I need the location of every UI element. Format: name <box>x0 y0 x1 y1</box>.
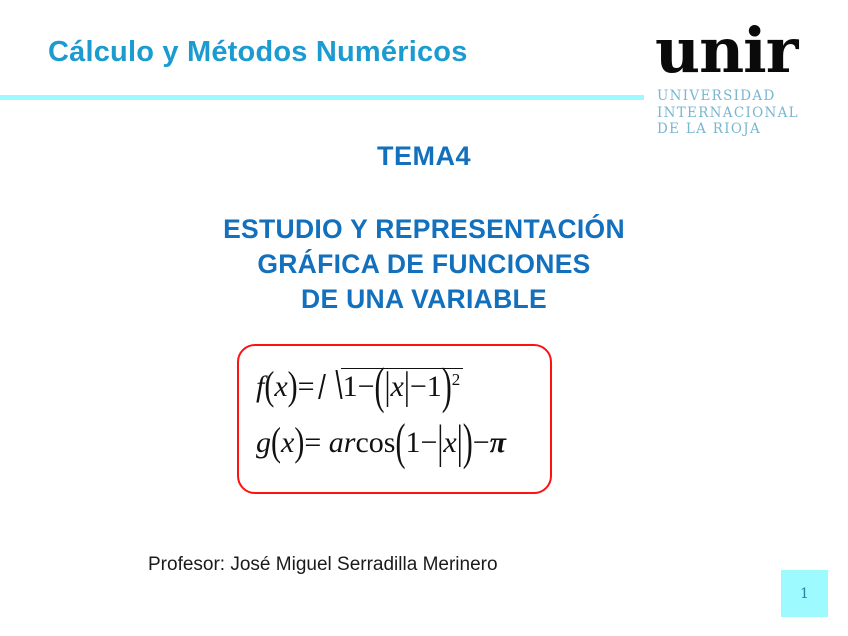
page-title-line-3: DE UNA VARIABLE <box>0 282 848 317</box>
unir-logo: unir UNIVERSIDAD INTERNACIONAL DE LA RIO… <box>655 20 825 138</box>
formula-f-close-paren: ) <box>288 364 298 410</box>
formula-g-cos: cos <box>355 426 395 459</box>
unir-wordmark: unir <box>655 20 797 82</box>
course-title: Cálculo y Métodos Numéricos <box>48 36 468 69</box>
formula-f-minus: − <box>358 370 375 403</box>
tema-label: TEMA4 <box>0 141 848 172</box>
formula-f-of-x: f(x)=1−(|x|−1)2 <box>256 368 463 404</box>
slide-canvas: Cálculo y Métodos Numéricos unir UNIVERS… <box>0 0 848 636</box>
formula-g-name: g <box>256 426 271 459</box>
formula-g-ar: ar <box>329 426 356 459</box>
formula-f-one: 1 <box>343 370 358 403</box>
page-title: ESTUDIO Y REPRESENTACIÓN GRÁFICA DE FUNC… <box>0 212 848 317</box>
page-title-line-1: ESTUDIO Y REPRESENTACIÓN <box>0 212 848 247</box>
formula-f-argument: x <box>274 370 287 403</box>
formula-f-inner-open-paren: ( <box>375 358 385 416</box>
formula-f-abs-close: | <box>404 365 410 409</box>
formula-g-argument: x <box>281 426 294 459</box>
formula-f-open-paren: ( <box>264 364 274 410</box>
professor-line: Profesor: José Miguel Serradilla Meriner… <box>148 554 498 576</box>
formula-g-minus-2: − <box>473 426 490 459</box>
square-root-icon: 1−(|x|−1)2 <box>319 368 464 404</box>
header-divider-rule <box>0 95 644 100</box>
formula-f-abs-open: | <box>385 365 391 409</box>
unir-subtitle-line-1: UNIVERSIDAD <box>657 88 799 105</box>
unir-subtitle: UNIVERSIDAD INTERNACIONAL DE LA RIOJA <box>657 88 799 138</box>
page-number-badge: 1 <box>781 570 828 617</box>
page-title-line-2: GRÁFICA DE FUNCIONES <box>0 247 848 282</box>
formula-f-abs-var: x <box>391 370 404 403</box>
formula-box: f(x)=1−(|x|−1)2 g(x)= arcos(1−|x|)−π <box>237 344 552 494</box>
formula-f-equals: = <box>298 370 315 403</box>
formula-g-close-paren: ) <box>294 420 304 466</box>
formula-f-inner-minus: − <box>410 370 427 403</box>
formula-g-close-paren-2: ) <box>463 414 473 472</box>
formula-f-name: f <box>256 370 264 403</box>
formula-g-of-x: g(x)= arcos(1−|x|)−π <box>256 426 506 460</box>
formula-g-open-paren: ( <box>271 420 281 466</box>
formula-f-exponent: 2 <box>452 370 461 389</box>
formula-g-one: 1 <box>405 426 420 459</box>
formula-g-pi: π <box>490 426 506 459</box>
formula-g-abs-var: x <box>443 426 456 459</box>
formula-f-inner-close-paren: ) <box>442 358 452 416</box>
formula-g-open-paren-2: ( <box>395 414 405 472</box>
formula-g-abs-open: | <box>437 417 443 470</box>
formula-f-radicand: 1−(|x|−1)2 <box>341 368 464 404</box>
formula-f-inner-one: 1 <box>427 370 442 403</box>
formula-g-equals: = <box>304 426 321 459</box>
unir-subtitle-line-3: DE LA RIOJA <box>657 121 799 138</box>
formula-g-minus-1: − <box>420 426 437 459</box>
unir-subtitle-line-2: INTERNACIONAL <box>657 105 799 122</box>
